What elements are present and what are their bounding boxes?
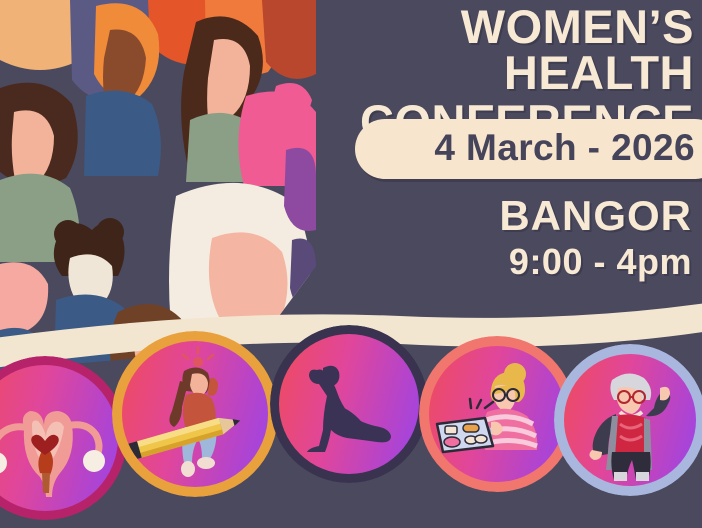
badge-woman-with-medication[interactable] <box>419 336 575 492</box>
badge-uterus-reproductive-health[interactable] <box>0 356 127 520</box>
woman-on-pencil-icon <box>122 341 268 487</box>
badge-older-woman-flexing[interactable] <box>554 344 702 496</box>
date-banner: 4 March - 2026 <box>355 119 702 179</box>
page-title-line1: WOMEN’S HEALTH <box>304 4 694 95</box>
badge-woman-on-pencil-education[interactable] <box>112 331 278 497</box>
badge-face <box>279 334 419 474</box>
badge-face <box>122 341 268 487</box>
badge-face <box>429 346 565 482</box>
yoga-stretch-silhouette-icon <box>279 334 419 474</box>
older-woman-flexing-icon <box>564 354 696 486</box>
city-label: BANGOR <box>499 192 692 240</box>
date-text: 4 March - 2026 <box>434 127 695 169</box>
poster-canvas: WOMEN’S HEALTH CONFERENCE 4 March - 2026… <box>0 0 702 528</box>
badge-face <box>0 365 118 511</box>
badge-yoga-stretch-silhouette[interactable] <box>270 325 428 483</box>
uterus-icon <box>0 365 118 511</box>
time-label: 9:00 - 4pm <box>509 241 692 283</box>
woman-with-pills-tray-icon <box>429 346 565 482</box>
badge-face <box>564 354 696 486</box>
